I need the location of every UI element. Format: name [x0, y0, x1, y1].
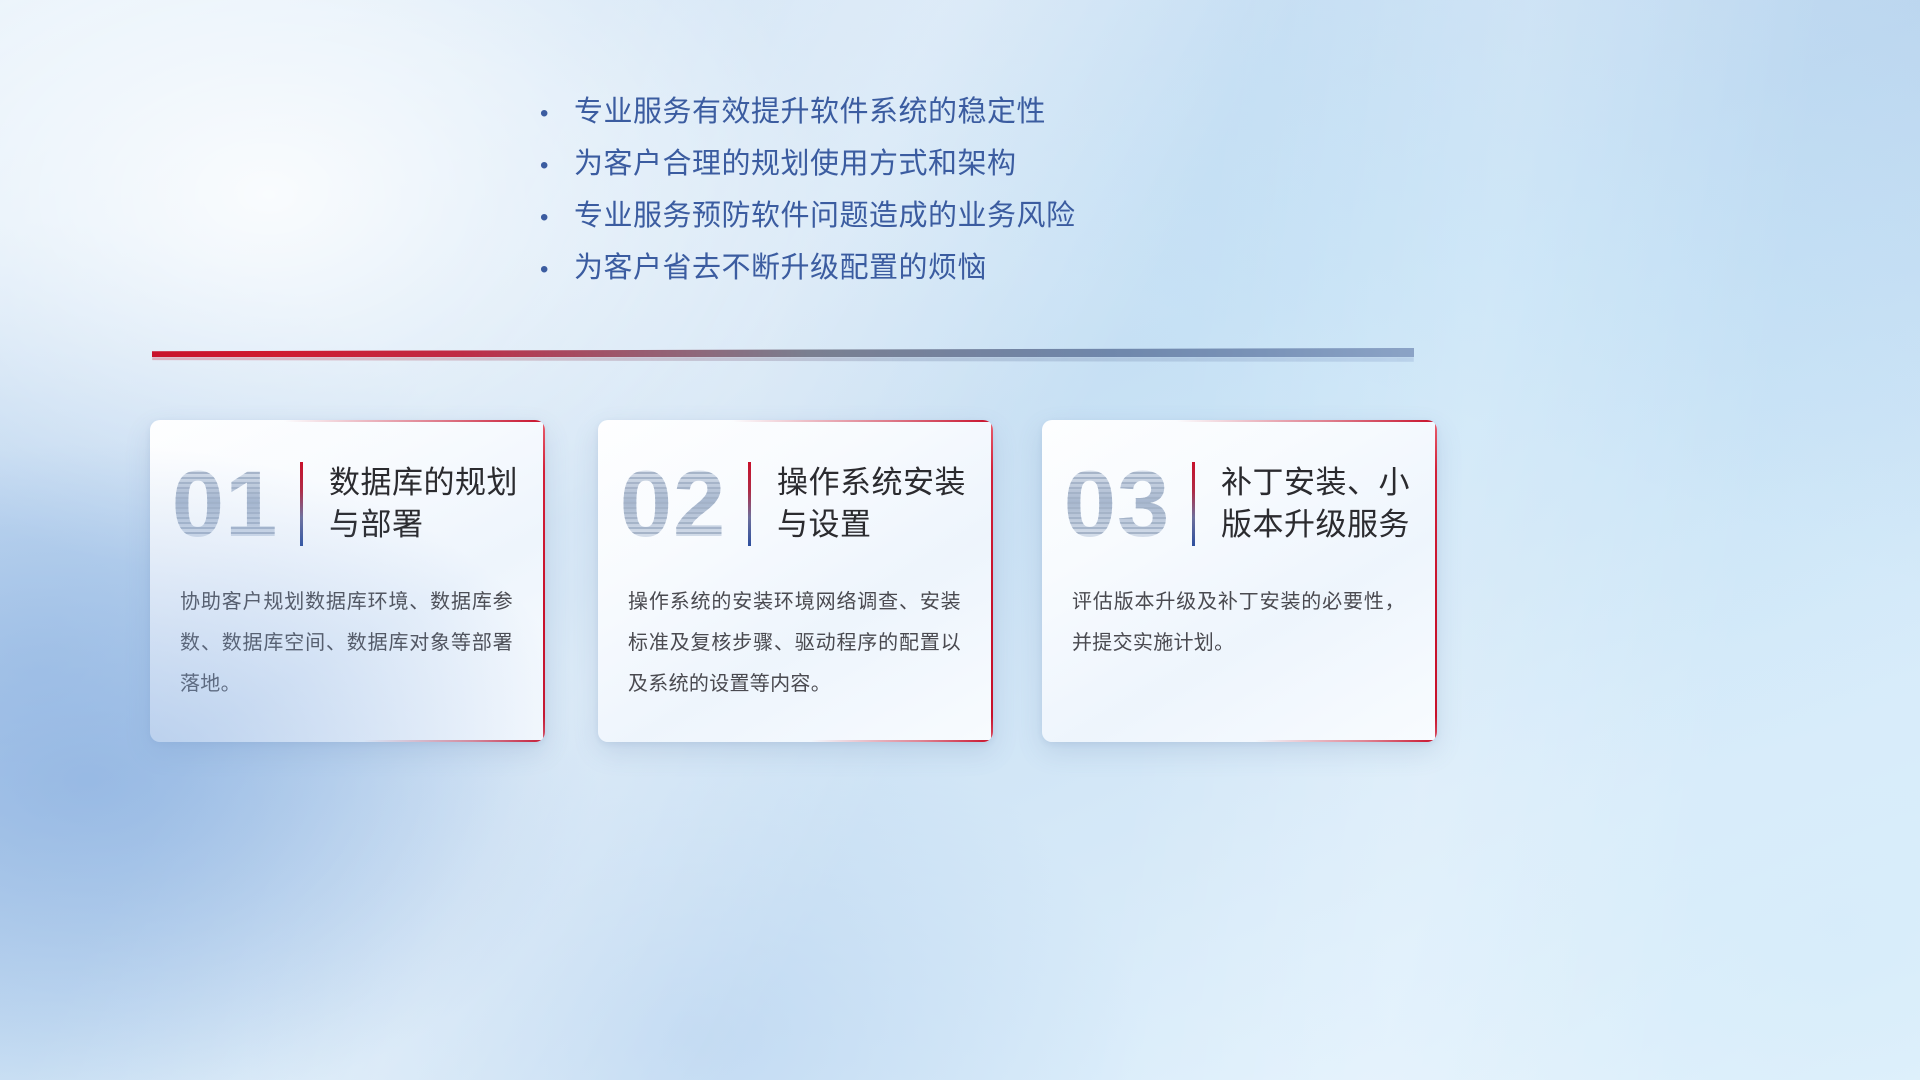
- service-card-02[interactable]: 02 操作系统安装与设置 操作系统的安装环境网络调查、安装标准及复核步骤、驱动程…: [598, 420, 993, 742]
- card-divider-rule: [300, 462, 303, 546]
- card-accent-edge-top: [732, 420, 993, 422]
- card-header: 02 操作系统安装与设置: [598, 442, 993, 566]
- card-number: 01: [150, 457, 300, 551]
- bullet-dot-icon: •: [540, 206, 574, 230]
- section-divider: [152, 348, 1414, 364]
- card-title: 补丁安装、小版本升级服务: [1221, 462, 1437, 546]
- card-number: 03: [1042, 457, 1192, 551]
- card-divider-rule: [748, 462, 751, 546]
- divider-gradient-bar: [152, 348, 1414, 357]
- bullet-dot-icon: •: [540, 102, 574, 126]
- card-accent-edge-top: [284, 420, 545, 422]
- card-description: 协助客户规划数据库环境、数据库参数、数据库空间、数据库对象等部署落地。: [180, 582, 513, 705]
- card-description: 评估版本升级及补丁安装的必要性，并提交实施计划。: [1072, 582, 1405, 664]
- service-card-03[interactable]: 03 补丁安装、小版本升级服务 评估版本升级及补丁安装的必要性，并提交实施计划。: [1042, 420, 1437, 742]
- service-cards: 01 数据库的规划与部署 协助客户规划数据库环境、数据库参数、数据库空间、数据库…: [150, 420, 1450, 742]
- card-number: 02: [598, 457, 748, 551]
- list-item: • 专业服务预防软件问题造成的业务风险: [540, 192, 1260, 244]
- card-accent-edge-bottom: [363, 740, 545, 742]
- service-card-01[interactable]: 01 数据库的规划与部署 协助客户规划数据库环境、数据库参数、数据库空间、数据库…: [150, 420, 545, 742]
- benefits-bullet-list: • 专业服务有效提升软件系统的稳定性 • 为客户合理的规划使用方式和架构 • 专…: [540, 88, 1260, 296]
- card-description: 操作系统的安装环境网络调查、安装标准及复核步骤、驱动程序的配置以及系统的设置等内…: [628, 582, 961, 705]
- slide-canvas: • 专业服务有效提升软件系统的稳定性 • 为客户合理的规划使用方式和架构 • 专…: [0, 0, 1920, 1080]
- card-header: 03 补丁安装、小版本升级服务: [1042, 442, 1437, 566]
- bullet-text: 为客户省去不断升级配置的烦恼: [574, 244, 987, 286]
- bullet-text: 专业服务预防软件问题造成的业务风险: [574, 192, 1076, 234]
- bullet-dot-icon: •: [540, 154, 574, 178]
- list-item: • 为客户省去不断升级配置的烦恼: [540, 244, 1260, 296]
- card-title: 操作系统安装与设置: [777, 462, 993, 546]
- bullet-text: 为客户合理的规划使用方式和架构: [574, 140, 1017, 182]
- card-accent-edge-bottom: [811, 740, 993, 742]
- list-item: • 专业服务有效提升软件系统的稳定性: [540, 88, 1260, 140]
- divider-shadow-bar: [152, 357, 1414, 362]
- card-accent-edge-top: [1176, 420, 1437, 422]
- list-item: • 为客户合理的规划使用方式和架构: [540, 140, 1260, 192]
- bullet-dot-icon: •: [540, 258, 574, 282]
- bullet-text: 专业服务有效提升软件系统的稳定性: [574, 88, 1046, 130]
- card-header: 01 数据库的规划与部署: [150, 442, 545, 566]
- card-title: 数据库的规划与部署: [329, 462, 545, 546]
- card-divider-rule: [1192, 462, 1195, 546]
- card-accent-edge-bottom: [1255, 740, 1437, 742]
